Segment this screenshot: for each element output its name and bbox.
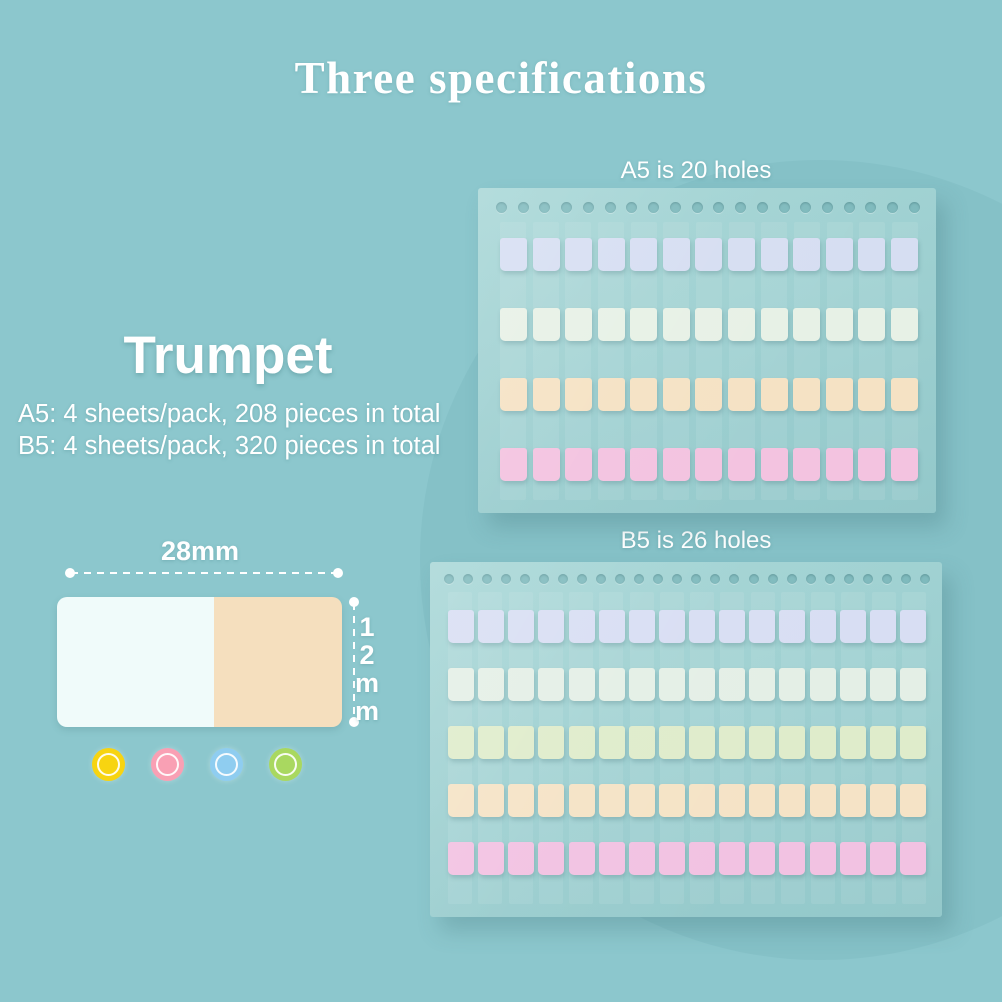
index-tab — [870, 842, 896, 875]
punch-hole — [605, 202, 616, 213]
index-tab — [500, 308, 527, 341]
index-tab — [629, 668, 655, 701]
index-tab — [538, 726, 564, 759]
punch-hole — [920, 574, 930, 584]
index-tab — [508, 784, 534, 817]
index-tab — [598, 308, 625, 341]
index-tab — [538, 668, 564, 701]
color-swatch-blue[interactable] — [210, 748, 243, 781]
index-tab — [478, 726, 504, 759]
spec-line-b5: B5: 4 sheets/pack, 320 pieces in total — [18, 432, 440, 461]
punch-hole — [577, 574, 587, 584]
punch-hole — [735, 202, 746, 213]
index-tab — [629, 726, 655, 759]
index-tab — [565, 448, 592, 481]
index-tab — [599, 784, 625, 817]
index-tab — [565, 378, 592, 411]
color-swatch-green[interactable] — [269, 748, 302, 781]
index-tab — [448, 842, 474, 875]
index-tab — [533, 448, 560, 481]
dimension-width-label: 28mm — [55, 536, 345, 567]
index-tab — [749, 842, 775, 875]
index-tab — [689, 842, 715, 875]
index-tab — [891, 378, 918, 411]
index-tab — [663, 308, 690, 341]
index-tab — [508, 842, 534, 875]
index-tab — [840, 668, 866, 701]
punch-hole — [729, 574, 739, 584]
punch-hole — [539, 202, 550, 213]
tab-row-beige — [500, 378, 918, 411]
index-tab — [599, 610, 625, 643]
index-tab — [630, 308, 657, 341]
punch-hole — [768, 574, 778, 584]
color-swatch-pink[interactable] — [151, 748, 184, 781]
index-tab — [508, 668, 534, 701]
index-tab — [749, 726, 775, 759]
punch-hole — [583, 202, 594, 213]
index-tab — [719, 668, 745, 701]
index-tab — [900, 784, 926, 817]
punch-holes-b5 — [444, 572, 930, 585]
index-tab — [569, 726, 595, 759]
sticker-sample-right-half — [214, 597, 342, 727]
punch-hole — [692, 202, 703, 213]
punch-hole — [501, 574, 511, 584]
index-tab — [659, 610, 685, 643]
index-tab — [538, 610, 564, 643]
punch-hole — [615, 574, 625, 584]
index-tab — [533, 308, 560, 341]
punch-hole — [648, 202, 659, 213]
index-tab — [598, 448, 625, 481]
punch-hole — [496, 202, 507, 213]
tab-row-light-green — [448, 726, 926, 759]
index-tab — [663, 448, 690, 481]
punch-hole — [482, 574, 492, 584]
index-tab — [630, 238, 657, 271]
index-tab — [500, 238, 527, 271]
punch-hole — [787, 574, 797, 584]
index-tab — [663, 378, 690, 411]
sticker-sample-left-half — [57, 597, 214, 727]
index-tab — [728, 238, 755, 271]
index-tab — [858, 378, 885, 411]
punch-hole — [444, 574, 454, 584]
index-tab — [826, 308, 853, 341]
punch-hole — [779, 202, 790, 213]
index-tab-sheet-b5 — [430, 562, 942, 917]
sheet-label-a5-text: A5 is 20 holes — [621, 157, 772, 184]
index-tab — [900, 610, 926, 643]
punch-hole — [558, 574, 568, 584]
punch-hole — [901, 574, 911, 584]
punch-hole — [626, 202, 637, 213]
index-tab — [719, 784, 745, 817]
punch-hole — [596, 574, 606, 584]
index-tab — [599, 842, 625, 875]
index-tab — [900, 668, 926, 701]
index-tab — [749, 784, 775, 817]
index-tab — [840, 610, 866, 643]
index-tab — [870, 610, 896, 643]
index-tab — [629, 784, 655, 817]
punch-hole — [713, 202, 724, 213]
index-tab — [448, 610, 474, 643]
index-tab — [569, 668, 595, 701]
index-tab — [659, 726, 685, 759]
index-tab — [779, 784, 805, 817]
index-tab — [598, 238, 625, 271]
index-tab — [826, 238, 853, 271]
index-tab — [900, 842, 926, 875]
index-tab — [779, 610, 805, 643]
index-tab — [761, 378, 788, 411]
color-swatch-yellow[interactable] — [92, 748, 125, 781]
index-tab — [538, 784, 564, 817]
index-tab — [689, 726, 715, 759]
index-tab — [870, 784, 896, 817]
index-tab — [569, 610, 595, 643]
punch-hole — [865, 202, 876, 213]
index-tab — [508, 726, 534, 759]
punch-hole — [463, 574, 473, 584]
index-tab — [891, 308, 918, 341]
index-tab — [810, 842, 836, 875]
index-tab — [840, 842, 866, 875]
index-tab-sheet-a5 — [478, 188, 936, 513]
index-tab — [569, 784, 595, 817]
punch-hole — [757, 202, 768, 213]
index-tab — [761, 308, 788, 341]
punch-hole — [882, 574, 892, 584]
index-tab — [891, 238, 918, 271]
index-tab — [779, 842, 805, 875]
index-tab — [870, 668, 896, 701]
index-tab — [779, 668, 805, 701]
punch-hole — [844, 202, 855, 213]
index-tab — [663, 238, 690, 271]
tab-row-pink — [448, 842, 926, 875]
index-tab — [870, 726, 896, 759]
spec-line-a5: A5: 4 sheets/pack, 208 pieces in total — [18, 400, 440, 429]
punch-hole — [561, 202, 572, 213]
sticker-sample — [57, 597, 342, 727]
index-tab — [448, 668, 474, 701]
index-tab — [761, 448, 788, 481]
index-tab — [478, 842, 504, 875]
tab-rows-a5 — [500, 238, 918, 513]
index-tab — [761, 238, 788, 271]
index-tab — [793, 448, 820, 481]
punch-hole — [518, 202, 529, 213]
punch-hole — [653, 574, 663, 584]
index-tab — [891, 448, 918, 481]
index-tab — [448, 784, 474, 817]
tab-row-periwinkle — [448, 610, 926, 643]
color-swatch-list — [92, 748, 302, 781]
index-tab — [629, 842, 655, 875]
index-tab — [840, 784, 866, 817]
index-tab — [689, 610, 715, 643]
index-tab — [900, 726, 926, 759]
punch-hole — [710, 574, 720, 584]
index-tab — [659, 668, 685, 701]
tab-row-pale-mint — [500, 308, 918, 341]
index-tab — [779, 726, 805, 759]
dimension-width-line — [65, 568, 343, 578]
index-tab — [858, 308, 885, 341]
index-tab — [793, 238, 820, 271]
index-tab — [659, 784, 685, 817]
index-tab — [826, 378, 853, 411]
sheet-label-a5: A5 is 20 holes — [0, 157, 1002, 185]
index-tab — [565, 308, 592, 341]
punch-hole — [539, 574, 549, 584]
index-tab — [689, 668, 715, 701]
index-tab — [793, 308, 820, 341]
index-tab — [533, 238, 560, 271]
index-tab — [659, 842, 685, 875]
index-tab — [858, 448, 885, 481]
punch-hole — [520, 574, 530, 584]
index-tab — [599, 726, 625, 759]
index-tab — [810, 784, 836, 817]
index-tab — [569, 842, 595, 875]
punch-hole — [670, 202, 681, 213]
index-tab — [695, 448, 722, 481]
punch-hole — [825, 574, 835, 584]
punch-hole — [806, 574, 816, 584]
index-tab — [793, 378, 820, 411]
index-tab — [565, 238, 592, 271]
punch-holes-a5 — [496, 200, 920, 214]
index-tab — [629, 610, 655, 643]
tab-row-pale-mint — [448, 668, 926, 701]
index-tab — [508, 610, 534, 643]
index-tab — [749, 610, 775, 643]
index-tab — [598, 378, 625, 411]
index-tab — [695, 378, 722, 411]
index-tab — [719, 842, 745, 875]
index-tab — [719, 726, 745, 759]
index-tab — [630, 448, 657, 481]
tab-rows-b5 — [448, 610, 926, 900]
dimension-height-label: 12mm — [351, 612, 382, 724]
index-tab — [478, 784, 504, 817]
index-tab — [728, 378, 755, 411]
index-tab — [599, 668, 625, 701]
punch-hole — [887, 202, 898, 213]
index-tab — [719, 610, 745, 643]
dimension-width-dash — [71, 572, 337, 574]
punch-hole — [634, 574, 644, 584]
index-tab — [630, 378, 657, 411]
index-tab — [749, 668, 775, 701]
index-tab — [478, 668, 504, 701]
index-tab — [533, 378, 560, 411]
index-tab — [728, 448, 755, 481]
index-tab — [840, 726, 866, 759]
punch-hole — [672, 574, 682, 584]
sheet-label-b5-text: B5 is 26 holes — [621, 527, 772, 554]
index-tab — [538, 842, 564, 875]
page-title: Three specifications — [0, 52, 1002, 104]
index-tab — [500, 378, 527, 411]
punch-hole — [844, 574, 854, 584]
punch-hole — [691, 574, 701, 584]
tab-row-periwinkle — [500, 238, 918, 271]
punch-hole — [863, 574, 873, 584]
index-tab — [728, 308, 755, 341]
index-tab — [810, 668, 836, 701]
punch-hole — [822, 202, 833, 213]
index-tab — [810, 610, 836, 643]
index-tab — [689, 784, 715, 817]
index-tab — [448, 726, 474, 759]
tab-row-pink — [500, 448, 918, 481]
index-tab — [858, 238, 885, 271]
index-tab — [695, 238, 722, 271]
dimension-width-cap-right — [333, 568, 343, 578]
index-tab — [695, 308, 722, 341]
index-tab — [478, 610, 504, 643]
punch-hole — [800, 202, 811, 213]
punch-hole — [909, 202, 920, 213]
index-tab — [826, 448, 853, 481]
index-tab — [810, 726, 836, 759]
product-heading: Trumpet — [28, 325, 428, 386]
index-tab — [500, 448, 527, 481]
tab-row-beige — [448, 784, 926, 817]
punch-hole — [749, 574, 759, 584]
